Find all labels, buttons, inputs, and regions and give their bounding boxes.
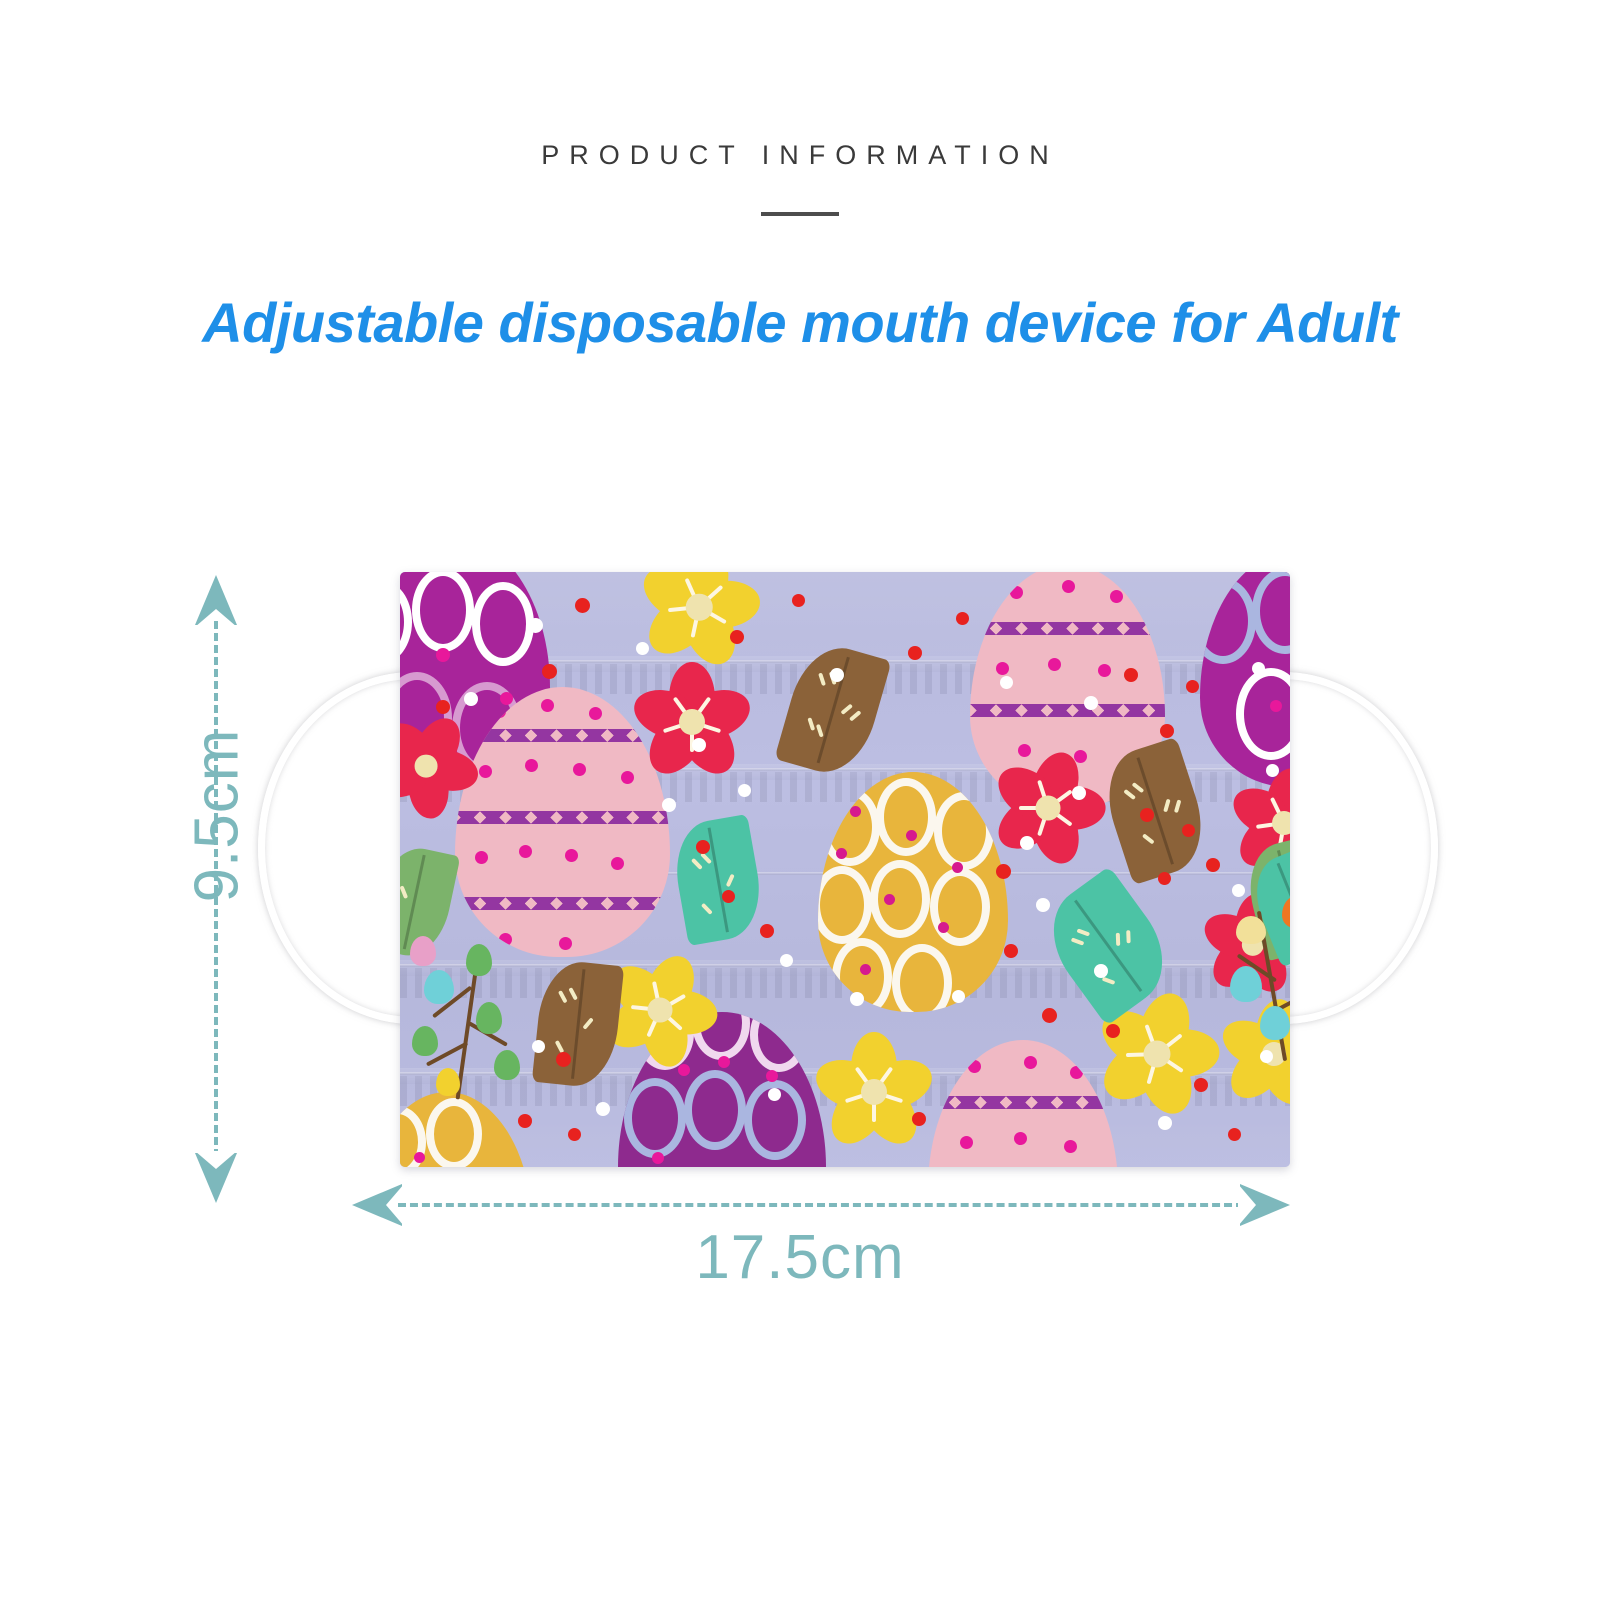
product-image-stage: 9.5cm 17.5cm: [0, 0, 1600, 1600]
dimension-width-arrow: [352, 1185, 1290, 1225]
face-mask-body: [400, 572, 1290, 1167]
arrow-down-notch: [195, 1151, 237, 1169]
dimension-height-label: 9.5cm: [182, 691, 253, 941]
arrow-right-notch: [1238, 1184, 1256, 1226]
dimension-width-label: 17.5cm: [0, 1222, 1600, 1293]
confetti-dots: [400, 572, 1290, 1167]
dimension-width-line: [398, 1203, 1244, 1207]
